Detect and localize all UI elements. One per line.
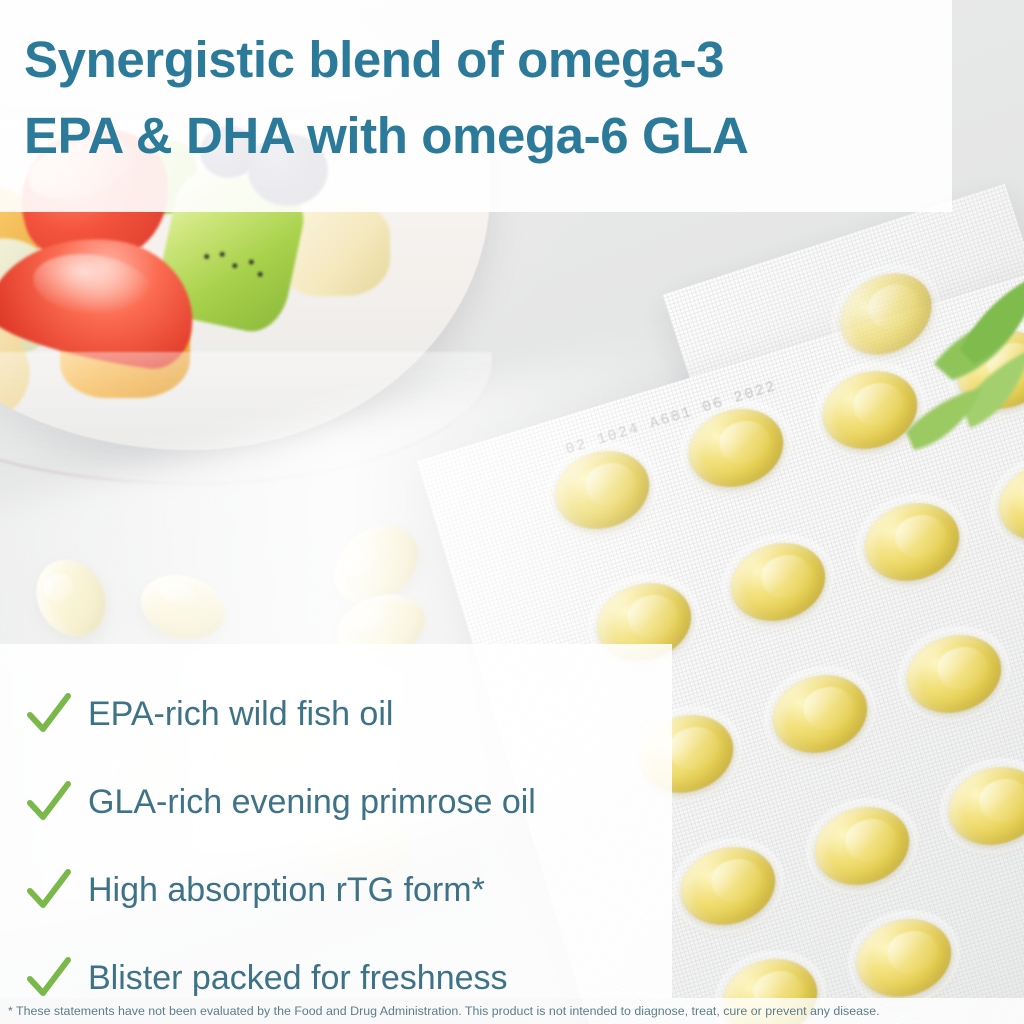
benefit-label: EPA-rich wild fish oil: [88, 697, 393, 731]
check-icon: [26, 779, 72, 825]
benefit-item: High absorption rTG form*: [0, 846, 672, 934]
headline-panel: Synergistic blend of omega-3 EPA & DHA w…: [0, 0, 952, 212]
benefit-label: Blister packed for freshness: [88, 961, 508, 995]
disclaimer-bar: * These statements have not been evaluat…: [0, 998, 1024, 1024]
check-icon: [26, 691, 72, 737]
benefit-item: GLA-rich evening primrose oil: [0, 758, 672, 846]
benefit-item: EPA-rich wild fish oil: [0, 670, 672, 758]
leaf-icon: [952, 254, 1024, 374]
check-icon: [26, 955, 72, 1001]
headline-line-2: EPA & DHA with omega-6 GLA: [24, 98, 952, 174]
product-graphic: 02 1024 A681 06 2022 Synergistic blend o…: [0, 0, 1024, 1024]
benefit-label: High absorption rTG form*: [88, 873, 485, 907]
disclaimer-text: * These statements have not been evaluat…: [8, 1005, 880, 1017]
benefit-label: GLA-rich evening primrose oil: [88, 785, 536, 819]
check-icon: [26, 867, 72, 913]
benefits-panel: EPA-rich wild fish oil GLA-rich evening …: [0, 644, 672, 998]
headline-line-1: Synergistic blend of omega-3: [24, 22, 952, 98]
